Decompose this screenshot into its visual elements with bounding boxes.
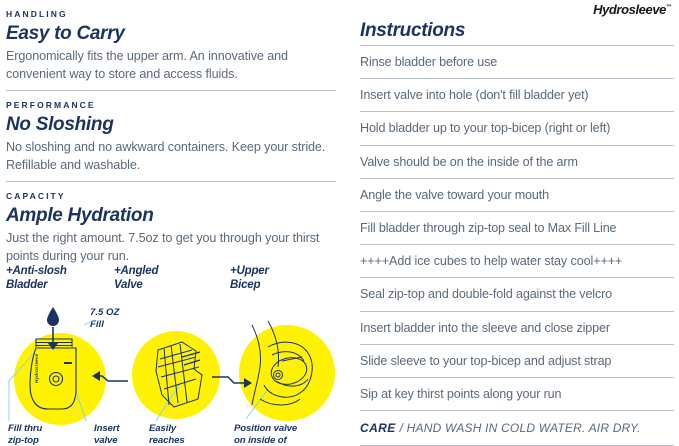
diagram-caption-reaches-mouth: Easilyreachesyour mouth: [149, 423, 213, 446]
care-instructions: CARE / HAND WASH IN COLD WATER. AIR DRY.: [360, 410, 674, 446]
instruction-step: Slide sleeve to your top-bicep and adjus…: [360, 344, 674, 377]
feature-title: Easy to Carry: [6, 22, 336, 45]
instruction-text: ++++Add ice cubes to help water stay coo…: [360, 253, 622, 269]
connector-arrow-right-icon: [212, 377, 252, 388]
instruction-text: Rinse bladder before use: [360, 54, 497, 70]
diagram-caption-position-valve: Position valveon inside ofupper-bicep.: [234, 423, 334, 446]
arm-bicep-illustration: [252, 321, 312, 405]
instruction-text: Sip at key thirst points along your run: [360, 386, 561, 402]
features-column: HANDLING Easy to Carry Ergonomically fit…: [6, 8, 336, 438]
feature-body: Just the right amount. 7.5oz to get you …: [6, 230, 336, 265]
instruction-step: Fill bladder through zip-top seal to Max…: [360, 211, 674, 244]
diagram-labels: +Anti-sloshBladder +AngledValve +UpperBi…: [6, 265, 342, 295]
instruction-step: Sip at key thirst points along your run: [360, 377, 674, 410]
instruction-text: Insert bladder into the sleeve and close…: [360, 320, 610, 336]
instructions-heading: Instructions: [360, 20, 465, 42]
instruction-text: Valve should be on the inside of the arm: [360, 154, 578, 170]
feature-title: Ample Hydration: [6, 204, 336, 227]
feature-capacity: CAPACITY Ample Hydration Just the right …: [6, 190, 336, 265]
connector-arrow-left-icon: [92, 371, 128, 381]
instruction-step: Insert bladder into the sleeve and close…: [360, 311, 674, 344]
instructions-column: Hydrosleeve™ Instructions Rinse bladder …: [358, 0, 674, 446]
diagram-label-valve: +AngledValve: [114, 265, 158, 292]
feature-eyebrow: PERFORMANCE: [6, 99, 336, 112]
instruction-step-ice-tip: ++++Add ice cubes to help water stay coo…: [360, 244, 674, 277]
instruction-text: Seal zip-top and double-fold against the…: [360, 286, 612, 302]
brand-logo: Hydrosleeve™: [593, 2, 672, 17]
diagram-label-bladder: +Anti-sloshBladder: [6, 265, 67, 292]
instruction-step: Seal zip-top and double-fold against the…: [360, 277, 674, 310]
divider: [6, 90, 336, 91]
divider: [6, 181, 336, 182]
diagram-caption-fill: Fill thruzip-topseal: [8, 423, 78, 446]
instruction-step: Hold bladder up to your top-bicep (right…: [360, 111, 674, 144]
feature-body: Ergonomically fits the upper arm. An inn…: [6, 48, 336, 83]
product-diagram: +Anti-sloshBladder +AngledValve +UpperBi…: [6, 265, 342, 446]
leader-lines-icon: [9, 320, 268, 421]
instruction-text: Hold bladder up to your top-bicep (right…: [360, 120, 610, 136]
valve-illustration: [156, 342, 202, 407]
instruction-step: Rinse bladder before use: [360, 45, 674, 78]
feature-performance: PERFORMANCE No Sloshing No sloshing and …: [6, 99, 336, 174]
instruction-text: Fill bladder through zip-top seal to Max…: [360, 220, 616, 236]
instruction-text: Insert valve into hole (don't fill bladd…: [360, 87, 588, 103]
trademark-symbol: ™: [666, 5, 672, 11]
feature-eyebrow: HANDLING: [6, 8, 336, 21]
diagram-label-bicep: +UpperBicep: [230, 265, 269, 292]
bladder-brand-mark: Hydrosleeve: [34, 353, 39, 383]
water-drop-icon: [47, 307, 59, 326]
product-instruction-panel: HANDLING Easy to Carry Ergonomically fit…: [0, 0, 679, 446]
instructions-list: Rinse bladder before use Insert valve in…: [360, 45, 674, 446]
brand-name: Hydrosleeve: [593, 2, 666, 17]
diagram-caption-insert-valve: Insertvalvehere: [94, 423, 146, 446]
instruction-step: Angle the valve toward your mouth: [360, 178, 674, 211]
feature-title: No Sloshing: [6, 113, 336, 136]
instruction-step: Insert valve into hole (don't fill bladd…: [360, 78, 674, 111]
instruction-step: Valve should be on the inside of the arm: [360, 145, 674, 178]
instruction-text: Slide sleeve to your top-bicep and adjus…: [360, 353, 611, 369]
instruction-text: Angle the valve toward your mouth: [360, 187, 549, 203]
feature-eyebrow: CAPACITY: [6, 190, 336, 203]
diagram-stage: 7.5 OZFill: [6, 295, 342, 446]
care-label: CARE: [360, 421, 396, 435]
feature-body: No sloshing and no awkward containers. K…: [6, 139, 336, 174]
care-text: / HAND WASH IN COLD WATER. AIR DRY.: [400, 421, 641, 435]
feature-handling: HANDLING Easy to Carry Ergonomically fit…: [6, 8, 336, 83]
